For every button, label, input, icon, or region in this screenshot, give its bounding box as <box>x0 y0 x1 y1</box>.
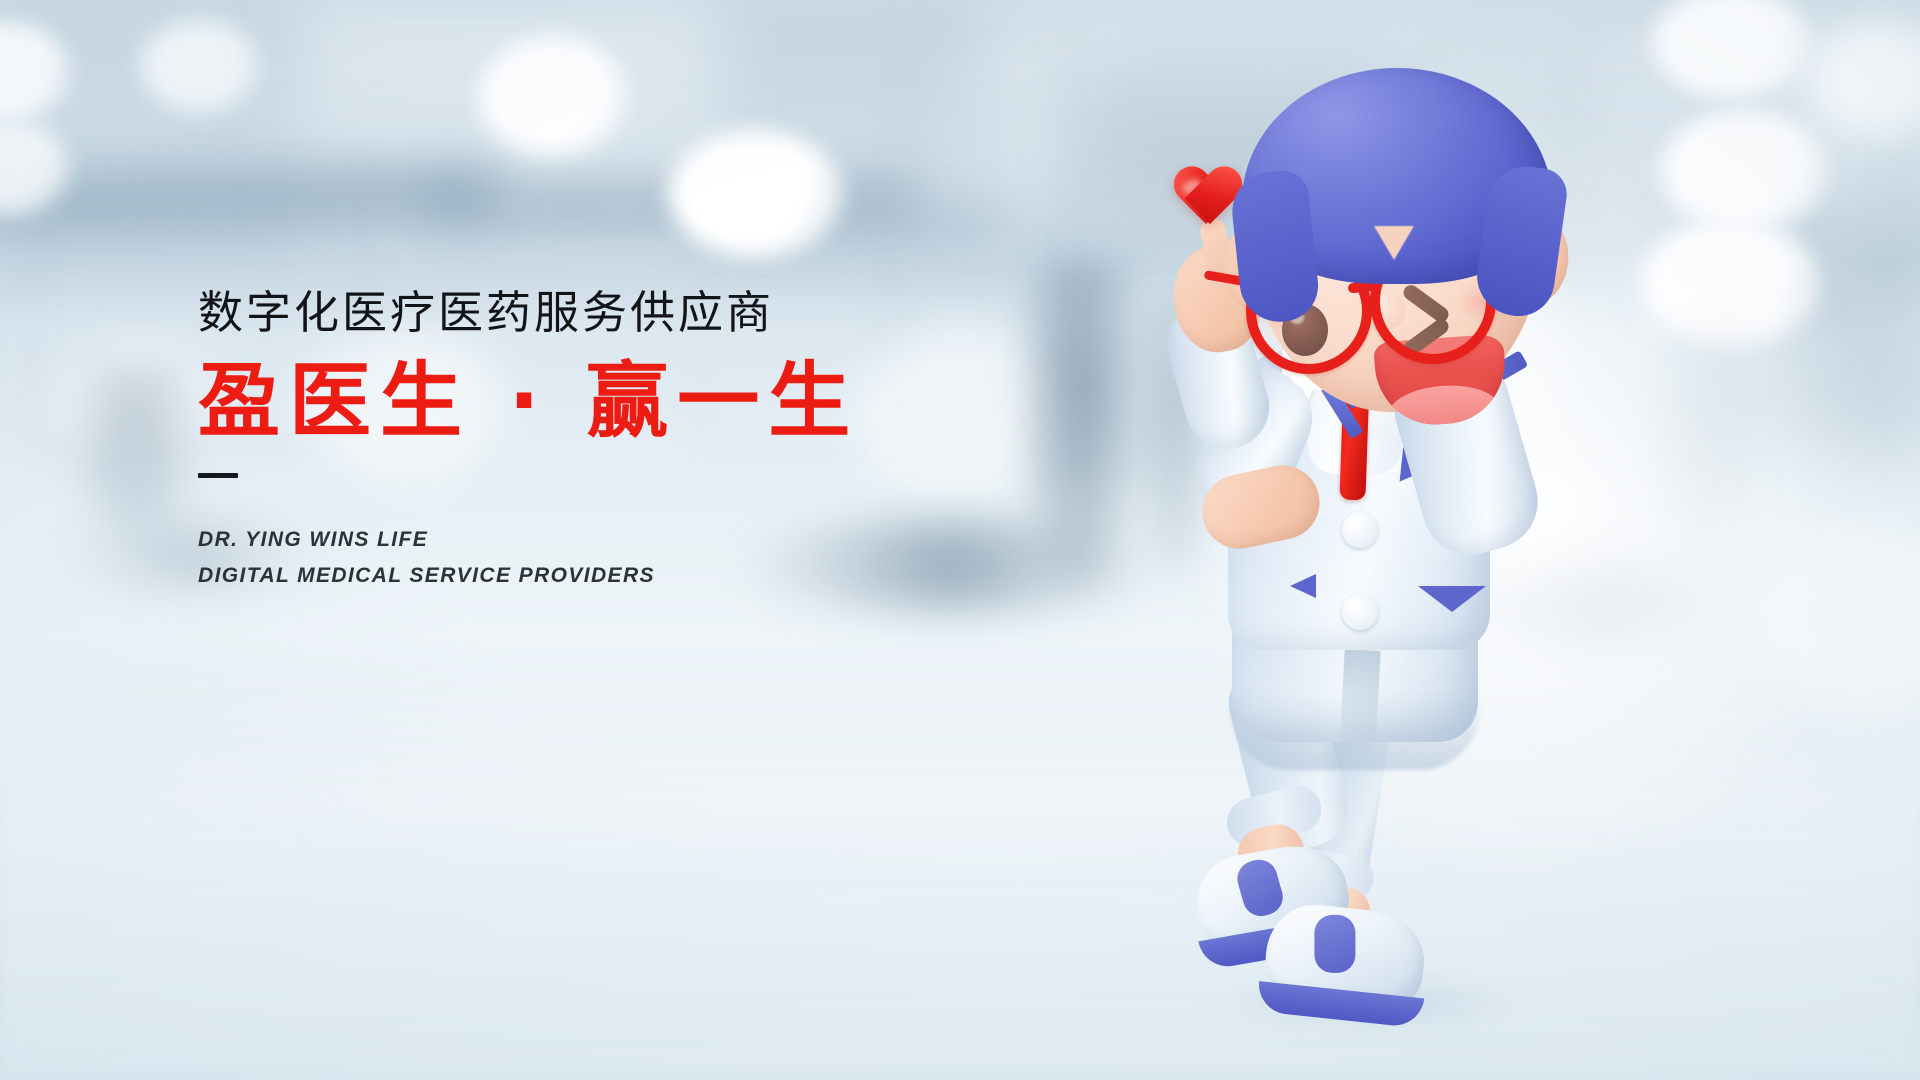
character-head <box>1246 76 1546 406</box>
shoe-strap <box>1315 915 1356 973</box>
character-hairline-peak <box>1374 226 1414 260</box>
doctor-character-illustration <box>1190 50 1620 1050</box>
hero-subtitle-chinese: 数字化医疗医药服务供应商 <box>198 288 1098 338</box>
coat-button-lower <box>1342 594 1378 630</box>
divider-rule <box>198 473 238 478</box>
character-shoe-right <box>1261 900 1429 1016</box>
hero-copy-block: 数字化医疗医药服务供应商 盈医生 · 赢一生 DR. YING WINS LIF… <box>198 288 1098 595</box>
coat-button-upper <box>1342 512 1378 548</box>
hero-english-line-1: DR. YING WINS LIFE <box>198 522 1098 558</box>
hero-banner: 数字化医疗医药服务供应商 盈医生 · 赢一生 DR. YING WINS LIF… <box>0 0 1920 1080</box>
coat-blue-arrow <box>1290 574 1316 598</box>
hero-english-line-2: DIGITAL MEDICAL SERVICE PROVIDERS <box>198 558 1098 594</box>
coat-blue-arrow <box>1418 586 1486 612</box>
lab-coat-split <box>1339 649 1380 755</box>
heart-highlight <box>1180 176 1204 198</box>
heart-icon <box>1174 168 1242 230</box>
hero-english-block: DR. YING WINS LIFE DIGITAL MEDICAL SERVI… <box>198 522 1098 594</box>
hero-title-chinese: 盈医生 · 赢一生 <box>198 356 1098 448</box>
